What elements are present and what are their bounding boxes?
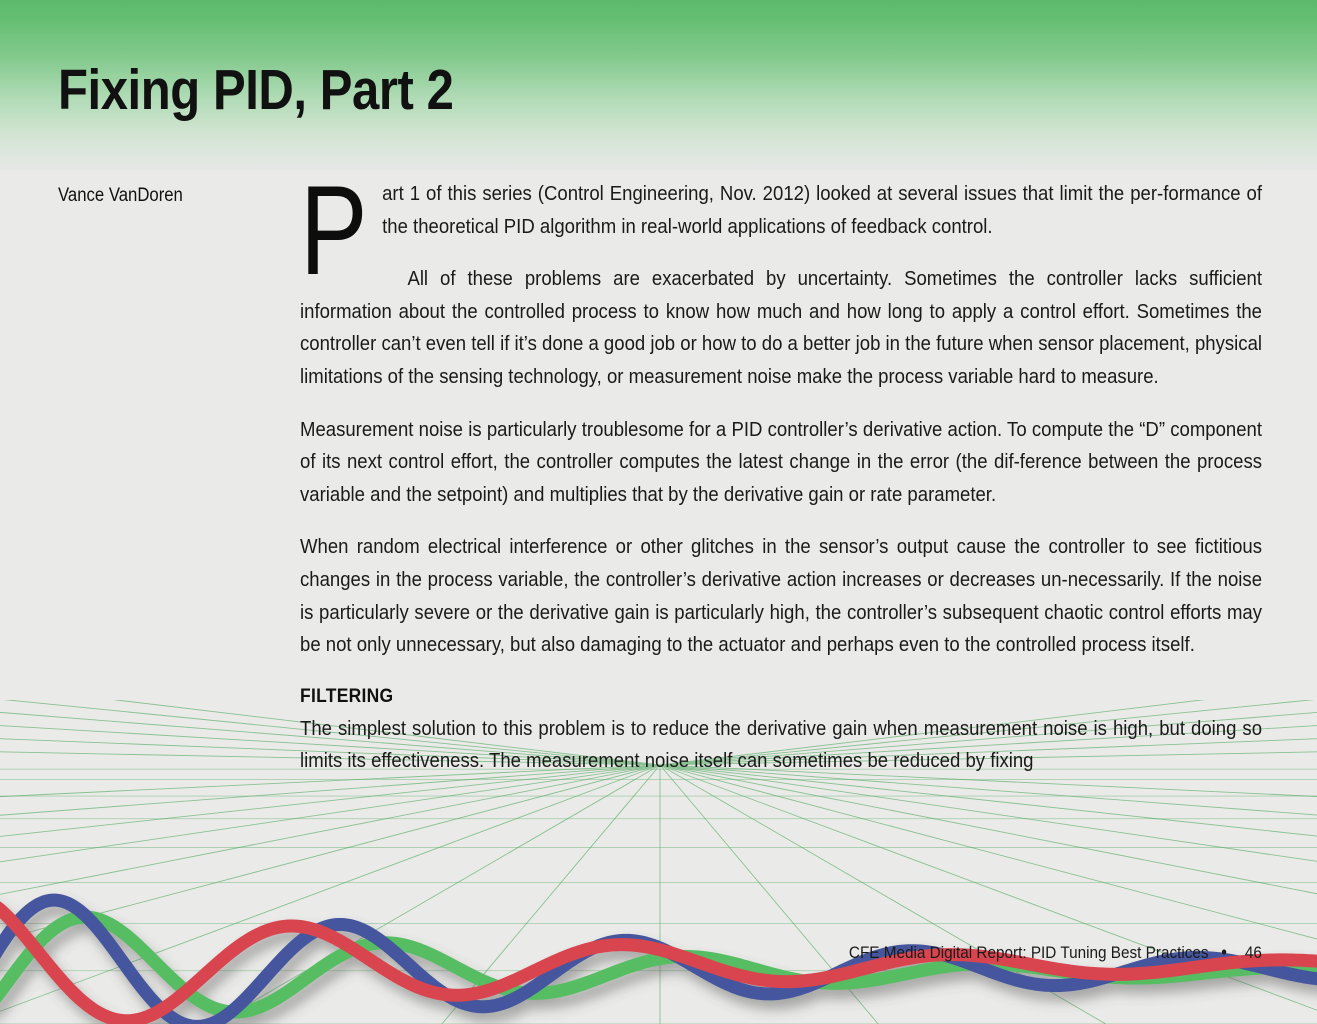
page-number: 46 [1240, 943, 1262, 962]
author-byline: Vance VanDoren [58, 184, 183, 208]
paragraph-filtering: The simplest solution to this problem is… [300, 713, 1262, 778]
footer-bullet-icon: • [1209, 942, 1240, 962]
paragraph-uncertainty-text: All of these problems are exacerbated by… [300, 267, 1262, 388]
section-heading-filtering: FILTERING [300, 682, 1185, 712]
page-footer: CFE Media Digital Report: PID Tuning Bes… [0, 941, 1262, 964]
paragraph-measurement-noise: Measurement noise is particularly troubl… [300, 414, 1262, 512]
paragraph-interference: When random electrical interference or o… [300, 531, 1262, 661]
footer-title: CFE Media Digital Report: PID Tuning Bes… [849, 943, 1209, 962]
document-page: Fixing PID, Part 2 Vance VanDoren Part 1… [0, 0, 1317, 1024]
article-body: Part 1 of this series (Control Engineeri… [300, 178, 1262, 778]
paragraph-intro: Part 1 of this series (Control Engineeri… [300, 178, 1262, 243]
page-title: Fixing PID, Part 2 [58, 58, 453, 122]
paragraph-intro-text: art 1 of this series (Control Engineerin… [382, 182, 1262, 238]
paragraph-uncertainty: All of these problems are exacerbated by… [300, 263, 1262, 393]
